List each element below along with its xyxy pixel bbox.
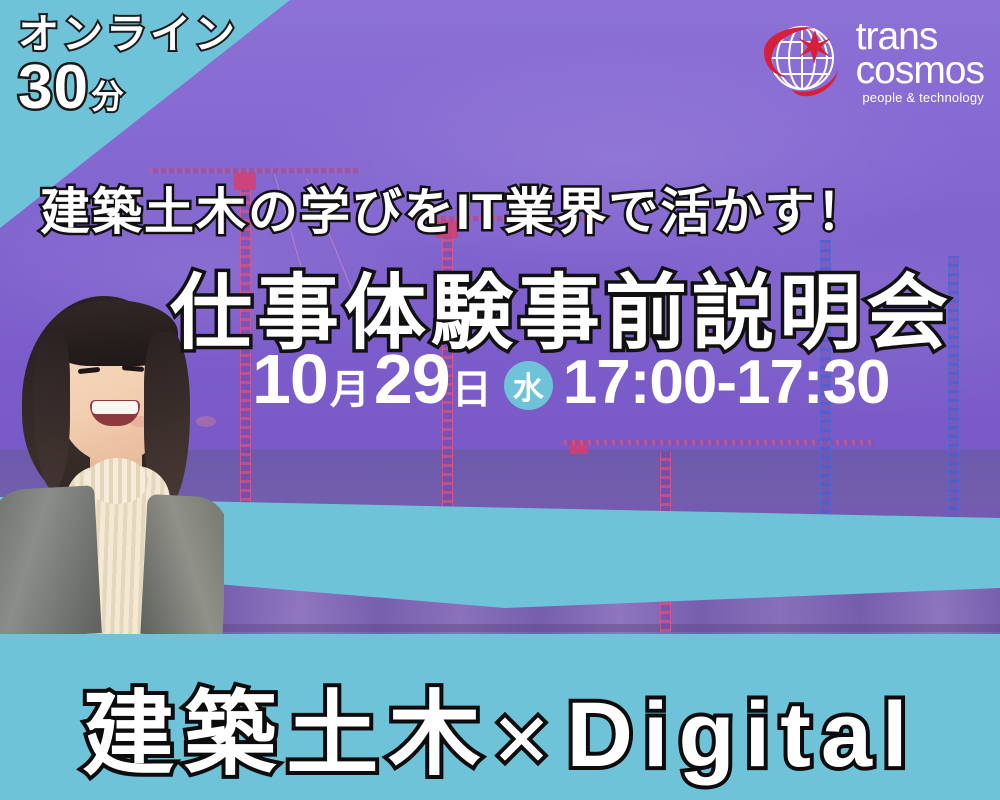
jacket-right-lapel (140, 494, 224, 634)
teeth (92, 401, 138, 414)
hair-left-strand (34, 332, 70, 490)
online-duration-badge: オンライン 30 分 (18, 14, 238, 118)
duration-number: 30 (18, 59, 89, 118)
duration-unit: 分 (91, 70, 124, 118)
event-datetime: 10 月 29 日 水 17:00-17:30 (252, 344, 890, 418)
turtleneck-collar (86, 458, 148, 504)
footer-right-text: Digital (566, 684, 917, 786)
event-month-unit: 月 (330, 357, 370, 415)
event-day-unit: 日 (452, 357, 492, 415)
cross-icon: ✕ (490, 699, 566, 782)
footer-left-text: 建築土木 (82, 684, 490, 786)
blush-right (196, 416, 216, 427)
logo-line-cosmos: cosmos (856, 54, 984, 88)
online-label: オンライン (18, 14, 238, 55)
logo-tagline: people & technology (856, 90, 984, 105)
event-time-range: 17:00-17:30 (563, 347, 890, 418)
globe-with-comet-icon (758, 12, 850, 104)
weekday-badge: 水 (504, 361, 553, 410)
event-month-number: 10 (252, 344, 328, 414)
duration-row: 30 分 (18, 59, 238, 118)
jacket-left-lapel (0, 485, 102, 634)
event-day-number: 29 (374, 344, 450, 414)
logo-wordmark: trans cosmos people & technology (856, 20, 984, 105)
theme-footer: 建築土木✕Digital (0, 660, 1000, 793)
seminar-poster: オンライン 30 分 (0, 0, 1000, 800)
kicker-headline: 建築土木の学びをIT業界で活かす！ (40, 172, 868, 244)
transcosmos-logo: trans cosmos people & technology (758, 12, 984, 105)
